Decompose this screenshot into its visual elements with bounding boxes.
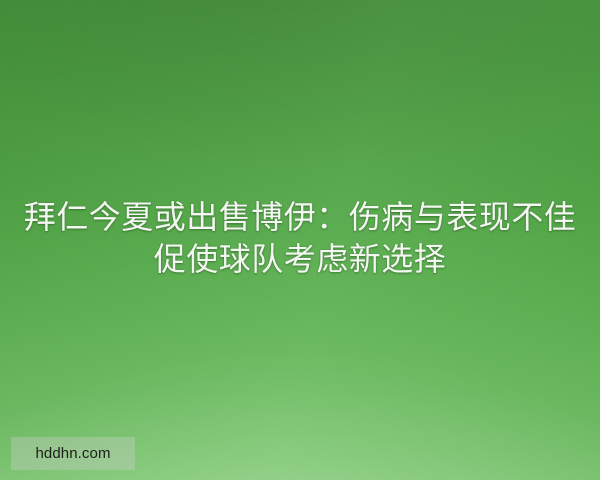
watermark-label: hddhn.com [35,446,110,461]
headline-text: 拜仁今夏或出售博伊：伤病与表现不佳促使球队考虑新选择 [0,196,600,280]
title-card: 拜仁今夏或出售博伊：伤病与表现不佳促使球队考虑新选择 hddhn.com [0,0,600,480]
site-watermark: hddhn.com [11,437,135,470]
